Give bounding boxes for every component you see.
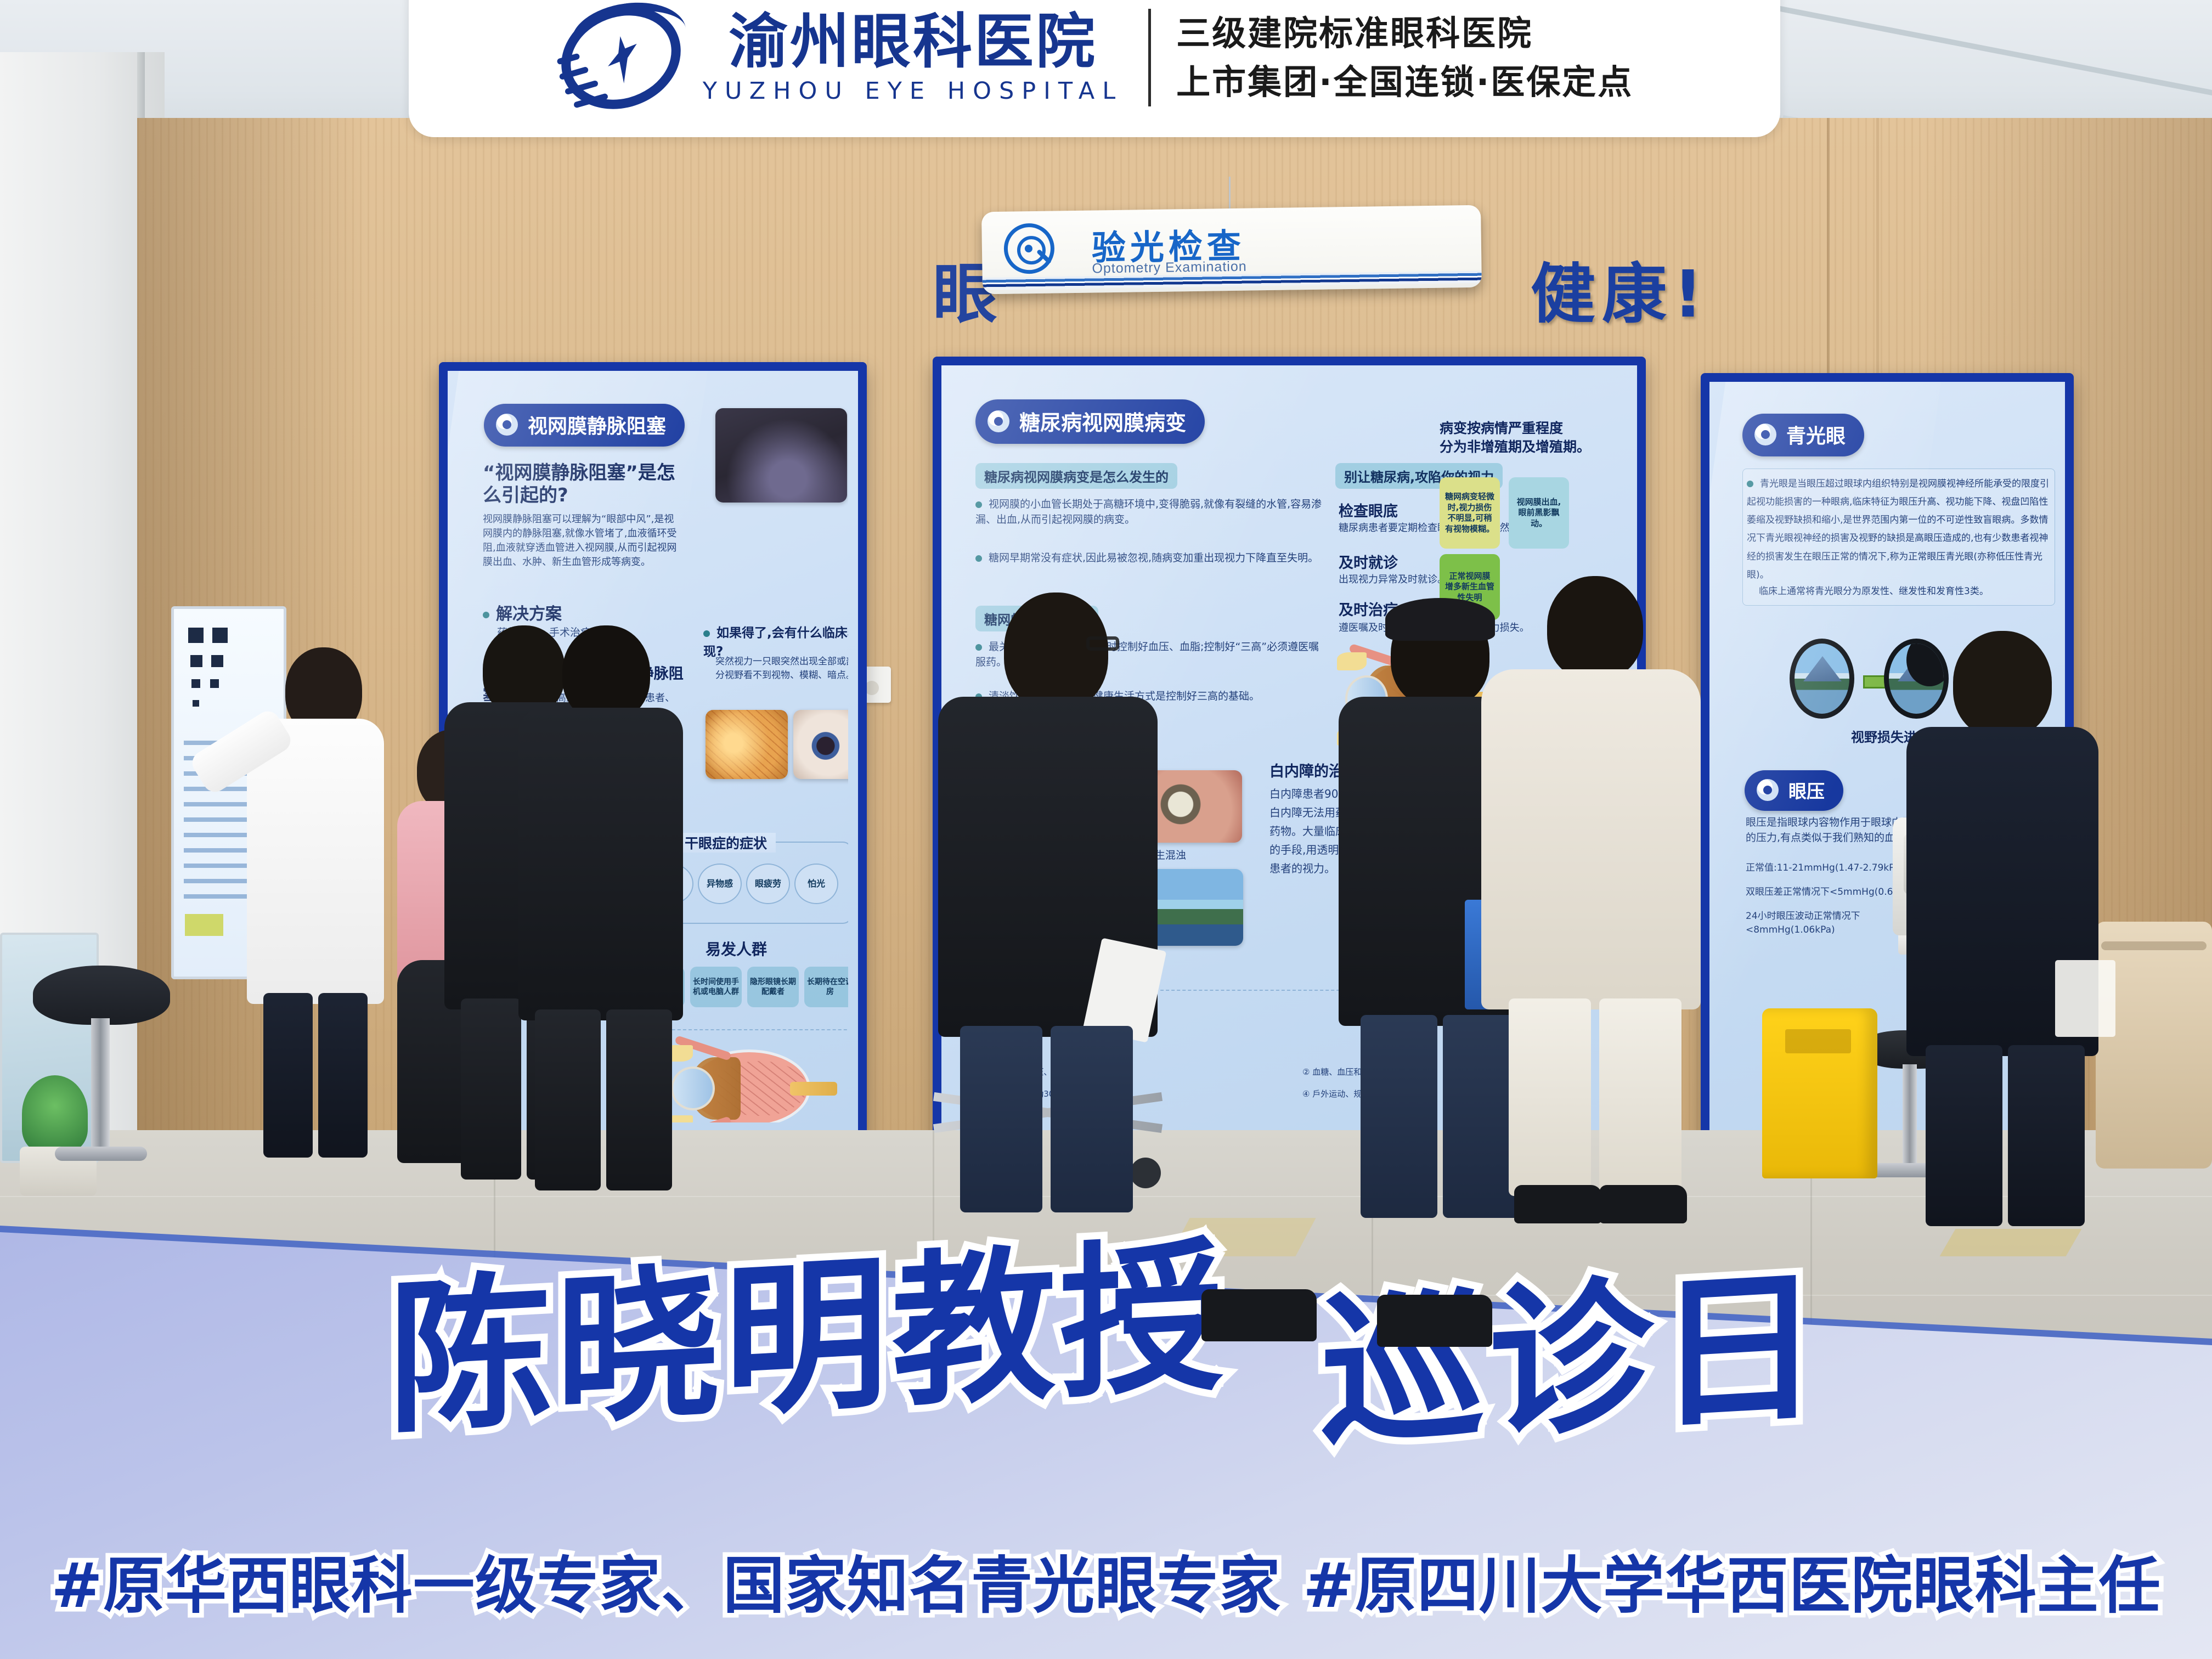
fundus-photo-orange <box>706 710 788 779</box>
board-right-pill2-label: 眼压 <box>1788 777 1825 803</box>
board-middle-r2-title: 及时就诊 <box>1339 551 1398 572</box>
risk-group-chip: 长时间使用手机或电脑人群 <box>690 967 742 1007</box>
visual-field-stage-1 <box>1790 639 1854 719</box>
board-left-h1: “视网膜静脉阻塞”是怎么引起的? <box>483 462 680 507</box>
severity-card: 视网膜出血,眼前黑影飘动。 <box>1509 477 1569 549</box>
person-dark-hoodie-left <box>510 625 691 1185</box>
iol-label: 人工晶体 <box>713 1121 761 1122</box>
hospital-logo-bar: 渝州眼科医院 YUZHOU EYE HOSPITAL 三级建院标准眼科医院 上市… <box>409 0 1780 137</box>
shoe <box>1201 1289 1317 1341</box>
logo-divider <box>1148 9 1151 106</box>
eyeball-photo <box>793 710 848 779</box>
board-left-s2-title: 解决方案 <box>483 600 562 624</box>
person-navy-jacket-right <box>1898 631 2107 1223</box>
hospital-name-en: YUZHOU EYE HOSPITAL <box>703 80 1123 103</box>
board-middle-pill: 糖尿病视网膜病变 <box>975 399 1205 444</box>
board-right-body2: 临床上通常将青光眼分为原发性、继发性和发育性3类。 <box>1759 585 2055 599</box>
held-plastic-bag <box>2055 960 2115 1037</box>
eye-icon <box>988 410 1009 432</box>
hospital-tagline-1: 三级建院标准眼科医院 <box>1176 12 1633 55</box>
eye-magnifier-icon <box>1003 223 1054 274</box>
eyeglasses <box>1086 636 1119 651</box>
hospital-logo-eye-mark <box>556 5 693 110</box>
board-middle-b1: 视网膜的小血管长期处于高糖环境中,变得脆弱,就像有裂缝的水管,容易渗漏、出血,从… <box>975 497 1327 527</box>
hospital-name-block: 渝州眼科医院 YUZHOU EYE HOSPITAL <box>703 13 1123 103</box>
trash-can <box>2096 922 2212 1169</box>
eye-icon <box>496 414 518 436</box>
person-cream-fleece <box>1476 576 1706 1223</box>
eye-icon <box>1757 779 1779 801</box>
eye-icon <box>1754 424 1776 445</box>
sign-rope <box>1229 177 1231 210</box>
risk-group-chip: 隐形眼镜长期配戴者 <box>747 967 799 1007</box>
board-middle-pill-label: 糖尿病视网膜病变 <box>1019 406 1186 436</box>
board-middle-b2: 糖网早期常没有症状,因此易被忽视,随病变加重出现视力下降直至失明。 <box>975 551 1327 566</box>
board-left-r1-title: 如果得了,会有什么临床表现? <box>703 622 848 659</box>
severity-card: 糖网病变轻微时,视力损伤不明显,可稍有视物模糊。 <box>1440 477 1500 549</box>
dry-eye-symptom: 眼疲劳 <box>746 864 790 904</box>
dry-eye-symptom: 怕光 <box>794 864 838 904</box>
person-man-glasses-center <box>927 592 1169 1207</box>
dry-eye-symptom: 异物感 <box>698 864 742 904</box>
yellow-mop-bucket <box>1762 1008 1877 1178</box>
board-left-r1-body: 突然视力一只眼突然出现全部或部分视野看不到视物、模糊、暗点。 <box>715 655 848 682</box>
wall-slogan: 健康! <box>1531 241 1709 335</box>
board-right-pill: 青光眼 <box>1742 414 1864 456</box>
board-right-pill-label: 青光眼 <box>1786 420 1846 449</box>
optometry-sign: 验光检查 Optometry Examination <box>981 205 1482 295</box>
bar-stool <box>33 966 170 1163</box>
risk-group-title: 易发人群 <box>706 938 767 960</box>
severity-title: 病变按病情严重程度 分为非增殖期及增殖期。 <box>1440 419 1627 456</box>
hospital-name-cn: 渝州眼科医院 <box>729 13 1097 72</box>
board-middle-r1-title: 检查眼底 <box>1339 499 1398 521</box>
poster-root: 眼 健康! 视网膜静脉阻塞 “视网膜静脉阻塞”是怎么引起的? 视网膜静脉阻塞可以… <box>0 0 2212 1659</box>
board-right-pill2: 眼压 <box>1745 770 1843 811</box>
risk-group-chip: 长期待在空调房 <box>804 967 848 1007</box>
board-left-pill: 视网膜静脉阻塞 <box>484 404 685 447</box>
person-doctor-white-coat <box>225 647 406 1169</box>
board-left-pill-label: 视网膜静脉阻塞 <box>528 410 666 439</box>
hospital-tagline-2: 上市集团·全国连锁·医保定点 <box>1176 61 1633 104</box>
board-middle-tag1: 糖尿病视网膜病变是怎么发生的 <box>975 463 1177 489</box>
board-left-p1: 视网膜静脉阻塞可以理解为“眼部中风”,是视网膜内的静脉阻塞,就像水管堵了,血液循… <box>483 512 680 569</box>
hospital-tagline-block: 三级建院标准眼科医院 上市集团·全国连锁·医保定点 <box>1176 12 1633 104</box>
shoe <box>1377 1295 1492 1347</box>
board-right-body: 青光眼是当眼压超过眼球内组织特别是视网膜视神经所能承受的限度引起视功能损害的一种… <box>1747 475 2051 584</box>
fundus-photo-dark <box>715 408 847 503</box>
